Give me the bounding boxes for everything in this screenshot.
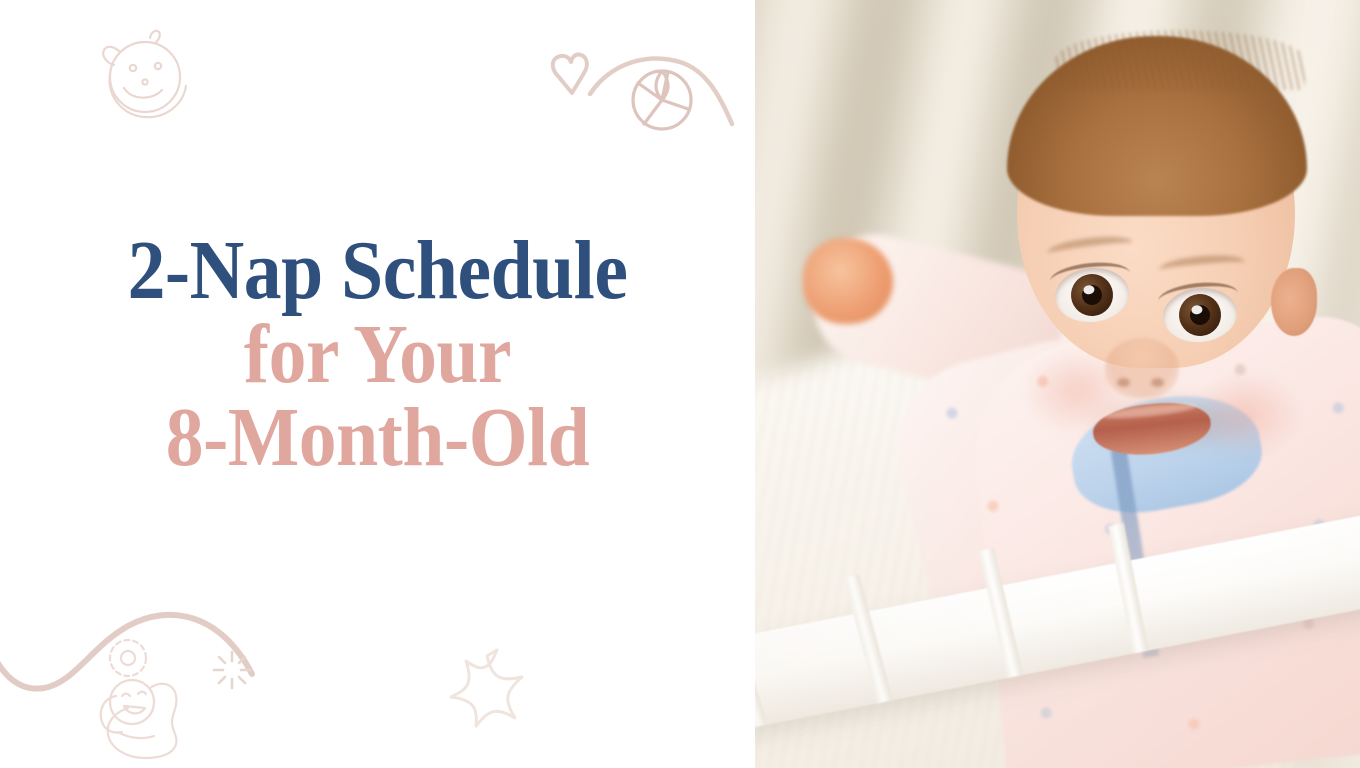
baby-cheek-right [1193, 372, 1301, 458]
star-doodle [448, 650, 526, 726]
baby-nose [1105, 338, 1179, 398]
baby-ear [1271, 268, 1317, 336]
wave-doodle [0, 592, 310, 712]
headline-line-3: 8-Month-Old [38, 393, 718, 482]
baby-nostril-right [1151, 378, 1164, 387]
sparkle-doodle [210, 648, 254, 692]
hero-photo [755, 0, 1360, 768]
baby-hair-wisps [1055, 30, 1305, 90]
swoosh-doodle [588, 48, 755, 134]
baby-fist [803, 238, 893, 324]
poster-canvas: 2-Nap Schedule for Your 8-Month-Old [0, 0, 1360, 768]
page-title: 2-Nap Schedule for Your 8-Month-Old [0, 228, 755, 482]
heart-doodle [548, 48, 600, 98]
baby-nostril-left [1117, 378, 1130, 387]
headline-line-2: for Your [38, 310, 718, 399]
headline-line-1: 2-Nap Schedule [38, 228, 718, 314]
baby-face-doodle [88, 22, 198, 127]
pinwheel-ball-doodle [624, 64, 700, 136]
baby-with-ball-doodle [86, 636, 218, 768]
text-panel: 2-Nap Schedule for Your 8-Month-Old [0, 0, 755, 768]
